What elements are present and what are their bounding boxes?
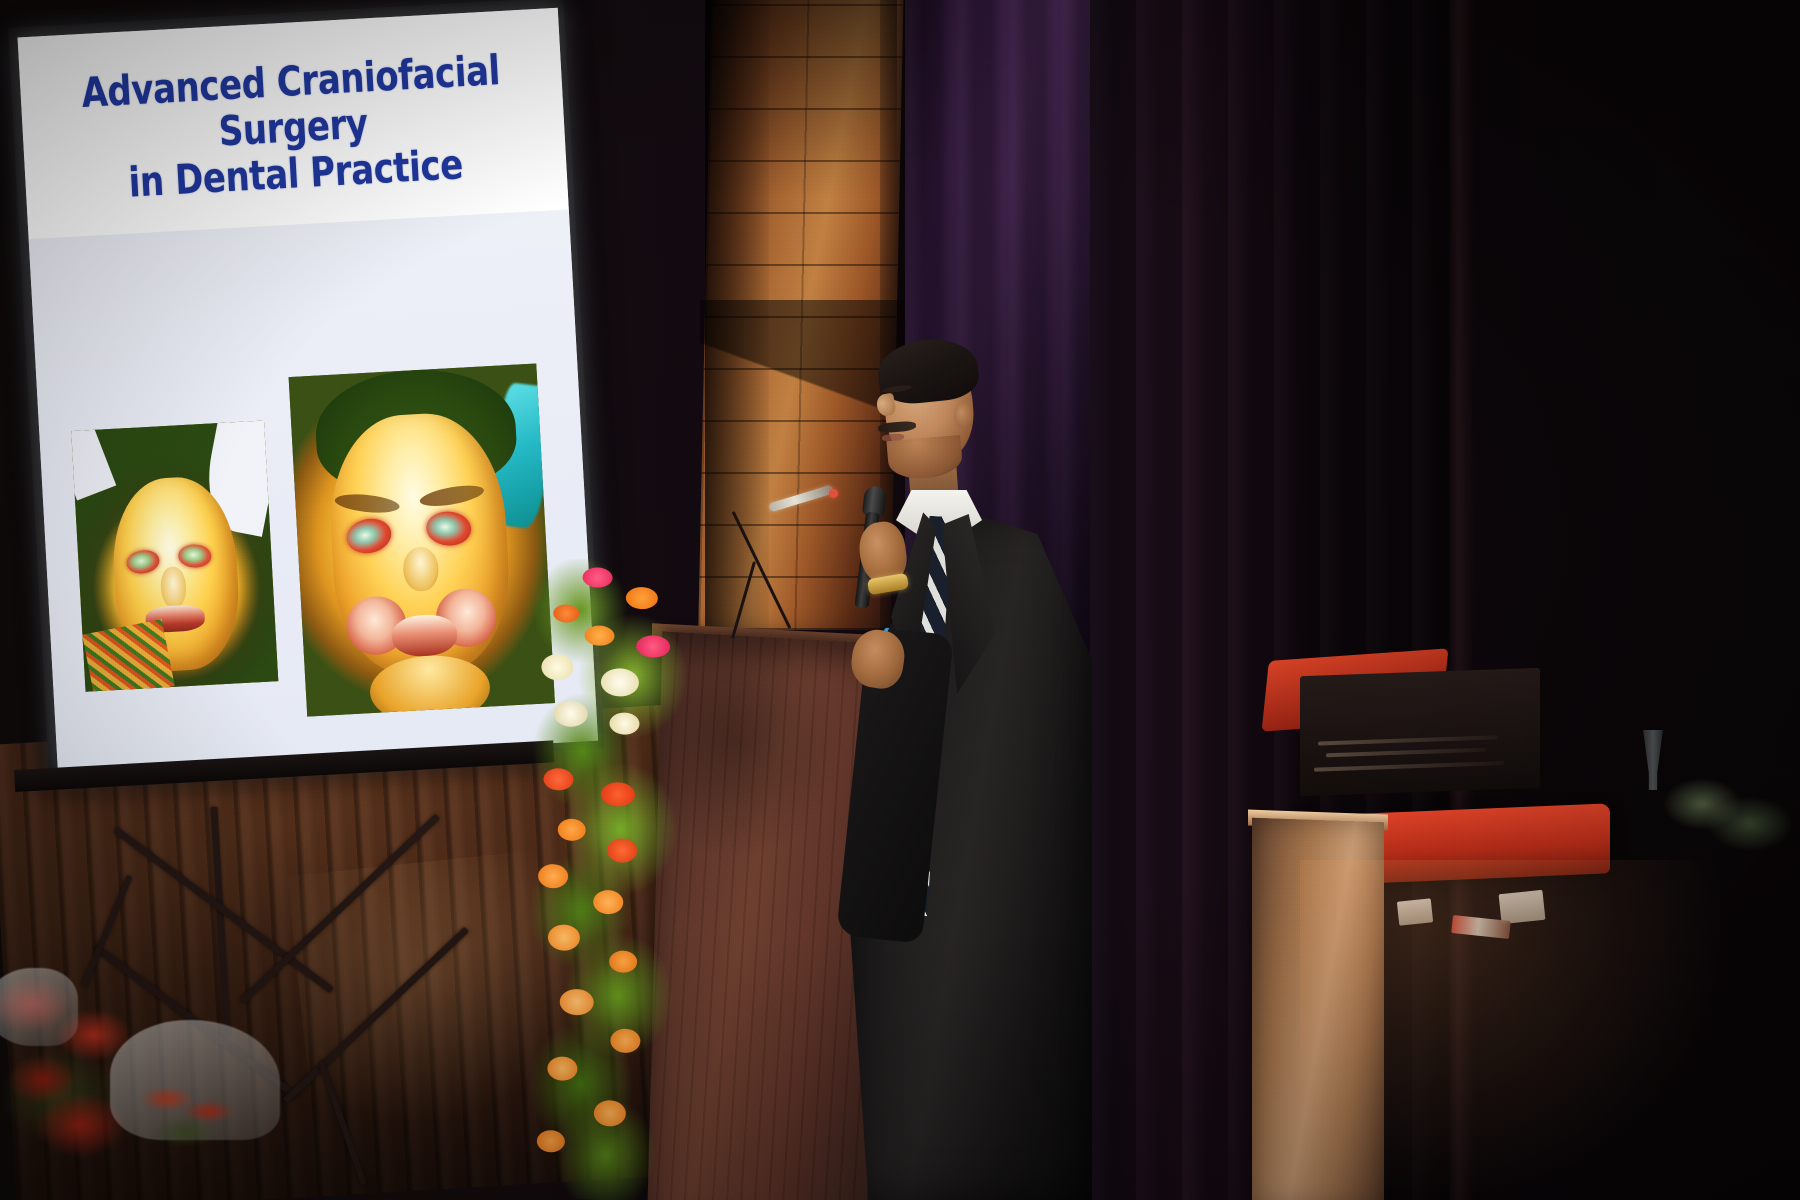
stand-brace-4 (283, 927, 469, 1104)
stacked-book-edge (1326, 748, 1486, 758)
photo-canvas: Advanced Craniofacial Surgeryin Dental P… (0, 0, 1800, 1200)
clinical-photo-right (288, 363, 555, 717)
stand-post (210, 807, 231, 1037)
stacked-book-edge (1314, 761, 1504, 772)
speaker (830, 330, 1090, 1200)
stand-leg-right (318, 1060, 367, 1185)
stand-brace-2 (239, 814, 440, 1005)
slide-body (29, 209, 598, 770)
podium-floral-garland (509, 557, 701, 1200)
stacked-book-edge (1318, 735, 1498, 745)
table-greenery (1660, 760, 1800, 870)
projected-slide: Advanced Craniofacial Surgeryin Dental P… (18, 8, 599, 771)
clinical-photo-left (72, 421, 278, 692)
projection-screen: Advanced Craniofacial Surgeryin Dental P… (8, 0, 604, 779)
equipment-stack (1300, 668, 1540, 796)
brick-column-shadow-top (705, 0, 897, 200)
bouquet-center-flowers (128, 1072, 258, 1162)
bouquet-center (110, 1020, 290, 1200)
warm-light-spot (1300, 860, 1720, 1200)
slide-title: Advanced Craniofacial Surgeryin Dental P… (56, 46, 531, 209)
bouquet-left-wrap (0, 968, 78, 1046)
speaker-ear (954, 402, 972, 428)
